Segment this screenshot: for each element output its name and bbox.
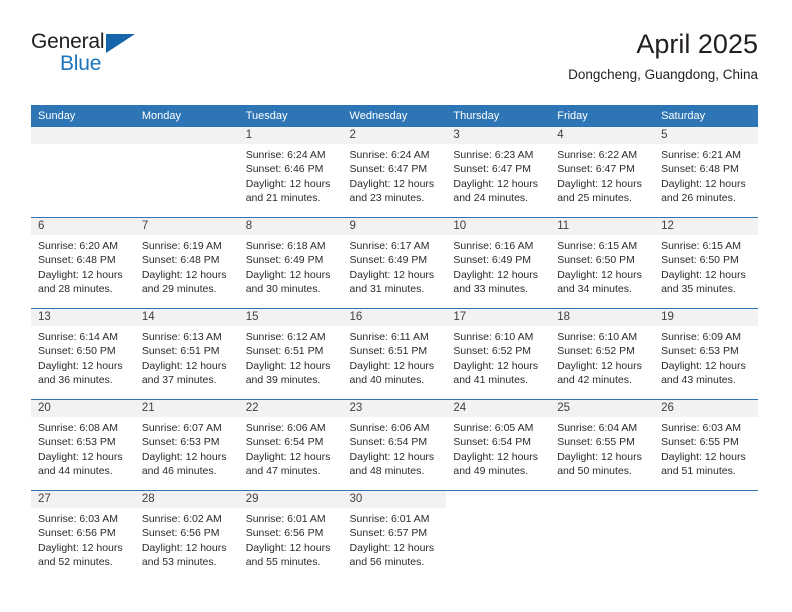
day-number: 16 — [343, 309, 447, 326]
day-detail-line: Sunrise: 6:20 AM — [38, 239, 129, 253]
day-detail-line: Sunrise: 6:13 AM — [142, 330, 233, 344]
calendar-day-cell[interactable]: 13Sunrise: 6:14 AMSunset: 6:50 PMDayligh… — [31, 309, 135, 400]
day-detail-line: Sunrise: 6:03 AM — [661, 421, 752, 435]
logo-text-blue: Blue — [60, 52, 101, 76]
day-detail-line: Daylight: 12 hours — [38, 541, 129, 555]
day-detail-line: Sunrise: 6:08 AM — [38, 421, 129, 435]
day-detail-line: Daylight: 12 hours — [246, 541, 337, 555]
day-details: Sunrise: 6:08 AMSunset: 6:53 PMDaylight:… — [31, 417, 135, 478]
calendar-empty-cell — [446, 491, 550, 582]
calendar-day-cell[interactable]: 16Sunrise: 6:11 AMSunset: 6:51 PMDayligh… — [343, 309, 447, 400]
calendar-day-cell[interactable]: 23Sunrise: 6:06 AMSunset: 6:54 PMDayligh… — [343, 400, 447, 491]
day-detail-line: and 41 minutes. — [453, 373, 544, 387]
day-number — [31, 127, 135, 144]
day-cell-inner: 10Sunrise: 6:16 AMSunset: 6:49 PMDayligh… — [446, 218, 550, 308]
calendar-empty-cell — [654, 491, 758, 582]
day-detail-line: and 48 minutes. — [350, 464, 441, 478]
day-number: 23 — [343, 400, 447, 417]
day-details: Sunrise: 6:19 AMSunset: 6:48 PMDaylight:… — [135, 235, 239, 296]
day-cell-inner: 6Sunrise: 6:20 AMSunset: 6:48 PMDaylight… — [31, 218, 135, 308]
calendar-day-cell[interactable]: 20Sunrise: 6:08 AMSunset: 6:53 PMDayligh… — [31, 400, 135, 491]
day-detail-line: Sunset: 6:53 PM — [142, 435, 233, 449]
weekday-header-wednesday: Wednesday — [343, 105, 447, 127]
day-detail-line: and 29 minutes. — [142, 282, 233, 296]
day-cell-inner: 14Sunrise: 6:13 AMSunset: 6:51 PMDayligh… — [135, 309, 239, 399]
day-detail-line: Sunset: 6:49 PM — [246, 253, 337, 267]
logo-triangle-icon — [106, 34, 135, 53]
day-detail-line: Sunset: 6:47 PM — [350, 162, 441, 176]
calendar-day-cell[interactable]: 24Sunrise: 6:05 AMSunset: 6:54 PMDayligh… — [446, 400, 550, 491]
day-detail-line: Sunrise: 6:23 AM — [453, 148, 544, 162]
day-detail-line: Daylight: 12 hours — [142, 541, 233, 555]
day-details: Sunrise: 6:22 AMSunset: 6:47 PMDaylight:… — [550, 144, 654, 205]
day-detail-line: Sunset: 6:47 PM — [453, 162, 544, 176]
day-detail-line: Sunrise: 6:10 AM — [557, 330, 648, 344]
day-detail-line: Sunrise: 6:21 AM — [661, 148, 752, 162]
day-details: Sunrise: 6:20 AMSunset: 6:48 PMDaylight:… — [31, 235, 135, 296]
day-detail-line: Sunset: 6:56 PM — [142, 526, 233, 540]
day-detail-line: Daylight: 12 hours — [453, 268, 544, 282]
day-details: Sunrise: 6:17 AMSunset: 6:49 PMDaylight:… — [343, 235, 447, 296]
calendar-day-cell[interactable]: 9Sunrise: 6:17 AMSunset: 6:49 PMDaylight… — [343, 218, 447, 309]
day-details: Sunrise: 6:01 AMSunset: 6:56 PMDaylight:… — [239, 508, 343, 569]
day-cell-inner: 2Sunrise: 6:24 AMSunset: 6:47 PMDaylight… — [343, 127, 447, 217]
page-header: General Blue April 2025 Dongcheng, Guang… — [31, 28, 758, 96]
day-detail-line: and 35 minutes. — [661, 282, 752, 296]
weekday-header-row: Sunday Monday Tuesday Wednesday Thursday… — [31, 105, 758, 127]
day-cell-inner: 5Sunrise: 6:21 AMSunset: 6:48 PMDaylight… — [654, 127, 758, 217]
calendar-day-cell[interactable]: 10Sunrise: 6:16 AMSunset: 6:49 PMDayligh… — [446, 218, 550, 309]
calendar-day-cell[interactable]: 17Sunrise: 6:10 AMSunset: 6:52 PMDayligh… — [446, 309, 550, 400]
day-cell-inner: 30Sunrise: 6:01 AMSunset: 6:57 PMDayligh… — [343, 491, 447, 581]
day-detail-line: Sunrise: 6:19 AM — [142, 239, 233, 253]
calendar-day-cell[interactable]: 6Sunrise: 6:20 AMSunset: 6:48 PMDaylight… — [31, 218, 135, 309]
calendar-day-cell[interactable]: 3Sunrise: 6:23 AMSunset: 6:47 PMDaylight… — [446, 127, 550, 218]
day-cell-inner: 25Sunrise: 6:04 AMSunset: 6:55 PMDayligh… — [550, 400, 654, 490]
day-cell-inner: 29Sunrise: 6:01 AMSunset: 6:56 PMDayligh… — [239, 491, 343, 581]
day-number: 7 — [135, 218, 239, 235]
day-detail-line: and 23 minutes. — [350, 191, 441, 205]
day-detail-line: Sunrise: 6:06 AM — [350, 421, 441, 435]
day-detail-line: and 31 minutes. — [350, 282, 441, 296]
day-detail-line: Sunset: 6:56 PM — [38, 526, 129, 540]
day-detail-line: Daylight: 12 hours — [350, 450, 441, 464]
day-detail-line: Sunrise: 6:07 AM — [142, 421, 233, 435]
day-details: Sunrise: 6:13 AMSunset: 6:51 PMDaylight:… — [135, 326, 239, 387]
day-detail-line: Sunset: 6:48 PM — [661, 162, 752, 176]
day-cell-inner: 24Sunrise: 6:05 AMSunset: 6:54 PMDayligh… — [446, 400, 550, 490]
weekday-header-tuesday: Tuesday — [239, 105, 343, 127]
calendar-empty-cell — [135, 127, 239, 218]
weekday-header-monday: Monday — [135, 105, 239, 127]
day-cell-inner: 8Sunrise: 6:18 AMSunset: 6:49 PMDaylight… — [239, 218, 343, 308]
day-detail-line: Sunset: 6:55 PM — [557, 435, 648, 449]
day-details: Sunrise: 6:06 AMSunset: 6:54 PMDaylight:… — [239, 417, 343, 478]
day-details: Sunrise: 6:24 AMSunset: 6:47 PMDaylight:… — [343, 144, 447, 205]
day-details: Sunrise: 6:04 AMSunset: 6:55 PMDaylight:… — [550, 417, 654, 478]
calendar-day-cell[interactable]: 19Sunrise: 6:09 AMSunset: 6:53 PMDayligh… — [654, 309, 758, 400]
day-cell-inner — [135, 127, 239, 217]
calendar-day-cell[interactable]: 18Sunrise: 6:10 AMSunset: 6:52 PMDayligh… — [550, 309, 654, 400]
day-detail-line: Daylight: 12 hours — [246, 359, 337, 373]
day-detail-line: Sunrise: 6:10 AM — [453, 330, 544, 344]
day-number: 12 — [654, 218, 758, 235]
day-detail-line: Sunrise: 6:12 AM — [246, 330, 337, 344]
weekday-header-sunday: Sunday — [31, 105, 135, 127]
calendar-day-cell[interactable]: 26Sunrise: 6:03 AMSunset: 6:55 PMDayligh… — [654, 400, 758, 491]
day-cell-inner: 11Sunrise: 6:15 AMSunset: 6:50 PMDayligh… — [550, 218, 654, 308]
day-cell-inner: 9Sunrise: 6:17 AMSunset: 6:49 PMDaylight… — [343, 218, 447, 308]
day-detail-line: Sunrise: 6:02 AM — [142, 512, 233, 526]
day-cell-inner: 18Sunrise: 6:10 AMSunset: 6:52 PMDayligh… — [550, 309, 654, 399]
calendar-day-cell[interactable]: 22Sunrise: 6:06 AMSunset: 6:54 PMDayligh… — [239, 400, 343, 491]
day-number — [135, 127, 239, 144]
day-details: Sunrise: 6:01 AMSunset: 6:57 PMDaylight:… — [343, 508, 447, 569]
day-detail-line: Daylight: 12 hours — [661, 177, 752, 191]
day-details: Sunrise: 6:14 AMSunset: 6:50 PMDaylight:… — [31, 326, 135, 387]
day-details: Sunrise: 6:06 AMSunset: 6:54 PMDaylight:… — [343, 417, 447, 478]
day-cell-inner: 4Sunrise: 6:22 AMSunset: 6:47 PMDaylight… — [550, 127, 654, 217]
day-number: 21 — [135, 400, 239, 417]
day-cell-inner: 7Sunrise: 6:19 AMSunset: 6:48 PMDaylight… — [135, 218, 239, 308]
day-detail-line: Sunrise: 6:15 AM — [661, 239, 752, 253]
day-detail-line: Daylight: 12 hours — [453, 450, 544, 464]
day-cell-inner: 20Sunrise: 6:08 AMSunset: 6:53 PMDayligh… — [31, 400, 135, 490]
day-detail-line: and 53 minutes. — [142, 555, 233, 569]
day-detail-line: and 56 minutes. — [350, 555, 441, 569]
calendar-day-cell[interactable]: 5Sunrise: 6:21 AMSunset: 6:48 PMDaylight… — [654, 127, 758, 218]
day-detail-line: Sunset: 6:51 PM — [142, 344, 233, 358]
day-detail-line: Daylight: 12 hours — [661, 268, 752, 282]
calendar-day-cell[interactable]: 25Sunrise: 6:04 AMSunset: 6:55 PMDayligh… — [550, 400, 654, 491]
day-detail-line: Sunset: 6:52 PM — [557, 344, 648, 358]
day-detail-line: and 44 minutes. — [38, 464, 129, 478]
day-detail-line: Sunset: 6:49 PM — [350, 253, 441, 267]
day-detail-line: Daylight: 12 hours — [661, 359, 752, 373]
day-cell-inner: 17Sunrise: 6:10 AMSunset: 6:52 PMDayligh… — [446, 309, 550, 399]
day-cell-inner — [31, 127, 135, 217]
day-details: Sunrise: 6:24 AMSunset: 6:46 PMDaylight:… — [239, 144, 343, 205]
day-detail-line: Sunset: 6:56 PM — [246, 526, 337, 540]
calendar-week-row: 6Sunrise: 6:20 AMSunset: 6:48 PMDaylight… — [31, 218, 758, 309]
day-detail-line: Sunrise: 6:01 AM — [350, 512, 441, 526]
calendar-body: 1Sunrise: 6:24 AMSunset: 6:46 PMDaylight… — [31, 127, 758, 581]
calendar-day-cell[interactable]: 4Sunrise: 6:22 AMSunset: 6:47 PMDaylight… — [550, 127, 654, 218]
day-cell-inner: 12Sunrise: 6:15 AMSunset: 6:50 PMDayligh… — [654, 218, 758, 308]
day-detail-line: Daylight: 12 hours — [350, 359, 441, 373]
day-detail-line: Sunset: 6:51 PM — [350, 344, 441, 358]
day-detail-line: Sunset: 6:50 PM — [557, 253, 648, 267]
day-detail-line: Sunrise: 6:24 AM — [246, 148, 337, 162]
day-detail-line: Sunset: 6:49 PM — [453, 253, 544, 267]
day-cell-inner — [654, 491, 758, 581]
day-detail-line: Sunset: 6:53 PM — [38, 435, 129, 449]
day-detail-line: Sunrise: 6:01 AM — [246, 512, 337, 526]
day-details: Sunrise: 6:23 AMSunset: 6:47 PMDaylight:… — [446, 144, 550, 205]
calendar-day-cell[interactable]: 12Sunrise: 6:15 AMSunset: 6:50 PMDayligh… — [654, 218, 758, 309]
day-number: 6 — [31, 218, 135, 235]
day-details: Sunrise: 6:21 AMSunset: 6:48 PMDaylight:… — [654, 144, 758, 205]
calendar-day-cell[interactable]: 11Sunrise: 6:15 AMSunset: 6:50 PMDayligh… — [550, 218, 654, 309]
day-detail-line: Sunset: 6:48 PM — [142, 253, 233, 267]
day-detail-line: Daylight: 12 hours — [557, 268, 648, 282]
day-number: 9 — [343, 218, 447, 235]
day-number: 24 — [446, 400, 550, 417]
day-cell-inner: 15Sunrise: 6:12 AMSunset: 6:51 PMDayligh… — [239, 309, 343, 399]
day-details: Sunrise: 6:11 AMSunset: 6:51 PMDaylight:… — [343, 326, 447, 387]
day-detail-line: Sunrise: 6:17 AM — [350, 239, 441, 253]
day-detail-line: and 52 minutes. — [38, 555, 129, 569]
weekday-header-thursday: Thursday — [446, 105, 550, 127]
day-detail-line: and 55 minutes. — [246, 555, 337, 569]
calendar-week-row: 1Sunrise: 6:24 AMSunset: 6:46 PMDaylight… — [31, 127, 758, 218]
day-details: Sunrise: 6:03 AMSunset: 6:56 PMDaylight:… — [31, 508, 135, 569]
day-detail-line: Sunset: 6:57 PM — [350, 526, 441, 540]
day-detail-line: Sunset: 6:46 PM — [246, 162, 337, 176]
day-detail-line: Daylight: 12 hours — [350, 177, 441, 191]
day-cell-inner: 19Sunrise: 6:09 AMSunset: 6:53 PMDayligh… — [654, 309, 758, 399]
day-number: 20 — [31, 400, 135, 417]
location-subtitle: Dongcheng, Guangdong, China — [568, 66, 758, 84]
day-detail-line: and 39 minutes. — [246, 373, 337, 387]
day-details: Sunrise: 6:03 AMSunset: 6:55 PMDaylight:… — [654, 417, 758, 478]
day-cell-inner — [550, 491, 654, 581]
day-detail-line: Sunset: 6:48 PM — [38, 253, 129, 267]
day-detail-line: Sunset: 6:54 PM — [246, 435, 337, 449]
day-detail-line: and 37 minutes. — [142, 373, 233, 387]
calendar-day-cell[interactable]: 2Sunrise: 6:24 AMSunset: 6:47 PMDaylight… — [343, 127, 447, 218]
day-detail-line: Sunrise: 6:04 AM — [557, 421, 648, 435]
day-number: 22 — [239, 400, 343, 417]
day-detail-line: Daylight: 12 hours — [142, 359, 233, 373]
day-cell-inner: 23Sunrise: 6:06 AMSunset: 6:54 PMDayligh… — [343, 400, 447, 490]
day-detail-line: Sunrise: 6:14 AM — [38, 330, 129, 344]
day-number: 3 — [446, 127, 550, 144]
day-details: Sunrise: 6:18 AMSunset: 6:49 PMDaylight:… — [239, 235, 343, 296]
day-detail-line: Daylight: 12 hours — [453, 177, 544, 191]
day-detail-line: Daylight: 12 hours — [557, 450, 648, 464]
calendar-page: General Blue April 2025 Dongcheng, Guang… — [0, 0, 792, 612]
calendar-day-cell[interactable]: 30Sunrise: 6:01 AMSunset: 6:57 PMDayligh… — [343, 491, 447, 582]
day-details: Sunrise: 6:02 AMSunset: 6:56 PMDaylight:… — [135, 508, 239, 569]
day-number: 5 — [654, 127, 758, 144]
calendar-week-row: 13Sunrise: 6:14 AMSunset: 6:50 PMDayligh… — [31, 309, 758, 400]
day-number: 15 — [239, 309, 343, 326]
day-details: Sunrise: 6:10 AMSunset: 6:52 PMDaylight:… — [550, 326, 654, 387]
day-cell-inner: 22Sunrise: 6:06 AMSunset: 6:54 PMDayligh… — [239, 400, 343, 490]
day-detail-line: Daylight: 12 hours — [38, 359, 129, 373]
day-number: 25 — [550, 400, 654, 417]
calendar-day-cell[interactable]: 27Sunrise: 6:03 AMSunset: 6:56 PMDayligh… — [31, 491, 135, 582]
day-detail-line: Sunset: 6:47 PM — [557, 162, 648, 176]
day-cell-inner: 28Sunrise: 6:02 AMSunset: 6:56 PMDayligh… — [135, 491, 239, 581]
day-cell-inner: 21Sunrise: 6:07 AMSunset: 6:53 PMDayligh… — [135, 400, 239, 490]
day-detail-line: and 42 minutes. — [557, 373, 648, 387]
day-detail-line: Sunrise: 6:16 AM — [453, 239, 544, 253]
day-detail-line: and 36 minutes. — [38, 373, 129, 387]
day-number: 17 — [446, 309, 550, 326]
day-detail-line: and 24 minutes. — [453, 191, 544, 205]
day-number: 18 — [550, 309, 654, 326]
day-detail-line: and 43 minutes. — [661, 373, 752, 387]
day-detail-line: and 25 minutes. — [557, 191, 648, 205]
day-cell-inner: 27Sunrise: 6:03 AMSunset: 6:56 PMDayligh… — [31, 491, 135, 581]
day-detail-line: Daylight: 12 hours — [246, 268, 337, 282]
day-number: 27 — [31, 491, 135, 508]
day-detail-line: Daylight: 12 hours — [453, 359, 544, 373]
general-blue-logo[interactable]: General Blue — [31, 28, 146, 80]
day-detail-line: Daylight: 12 hours — [557, 359, 648, 373]
day-detail-line: Sunset: 6:55 PM — [661, 435, 752, 449]
day-detail-line: and 51 minutes. — [661, 464, 752, 478]
day-detail-line: Daylight: 12 hours — [661, 450, 752, 464]
day-cell-inner: 16Sunrise: 6:11 AMSunset: 6:51 PMDayligh… — [343, 309, 447, 399]
day-detail-line: and 21 minutes. — [246, 191, 337, 205]
day-detail-line: Sunrise: 6:18 AM — [246, 239, 337, 253]
calendar-week-row: 20Sunrise: 6:08 AMSunset: 6:53 PMDayligh… — [31, 400, 758, 491]
day-detail-line: and 49 minutes. — [453, 464, 544, 478]
day-detail-line: Sunset: 6:50 PM — [661, 253, 752, 267]
day-cell-inner: 3Sunrise: 6:23 AMSunset: 6:47 PMDaylight… — [446, 127, 550, 217]
day-detail-line: and 28 minutes. — [38, 282, 129, 296]
day-number: 28 — [135, 491, 239, 508]
logo-text-general: General — [31, 30, 104, 54]
day-detail-line: Daylight: 12 hours — [557, 177, 648, 191]
day-detail-line: and 46 minutes. — [142, 464, 233, 478]
calendar-day-cell[interactable]: 29Sunrise: 6:01 AMSunset: 6:56 PMDayligh… — [239, 491, 343, 582]
day-details: Sunrise: 6:12 AMSunset: 6:51 PMDaylight:… — [239, 326, 343, 387]
day-details: Sunrise: 6:10 AMSunset: 6:52 PMDaylight:… — [446, 326, 550, 387]
day-number — [446, 491, 550, 508]
day-detail-line: Daylight: 12 hours — [142, 268, 233, 282]
day-number: 11 — [550, 218, 654, 235]
calendar-day-cell[interactable]: 8Sunrise: 6:18 AMSunset: 6:49 PMDaylight… — [239, 218, 343, 309]
day-detail-line: Sunset: 6:52 PM — [453, 344, 544, 358]
page-title: April 2025 — [568, 28, 758, 60]
calendar-empty-cell — [31, 127, 135, 218]
day-number — [550, 491, 654, 508]
day-number: 30 — [343, 491, 447, 508]
day-detail-line: Sunrise: 6:11 AM — [350, 330, 441, 344]
weekday-header-saturday: Saturday — [654, 105, 758, 127]
day-detail-line: Daylight: 12 hours — [142, 450, 233, 464]
day-detail-line: and 33 minutes. — [453, 282, 544, 296]
day-number: 2 — [343, 127, 447, 144]
day-number: 26 — [654, 400, 758, 417]
calendar-grid: Sunday Monday Tuesday Wednesday Thursday… — [31, 105, 758, 581]
weekday-header-friday: Friday — [550, 105, 654, 127]
day-number: 13 — [31, 309, 135, 326]
day-detail-line: Sunrise: 6:06 AM — [246, 421, 337, 435]
day-detail-line: Daylight: 12 hours — [246, 177, 337, 191]
day-detail-line: Sunrise: 6:03 AM — [38, 512, 129, 526]
day-detail-line: Sunset: 6:51 PM — [246, 344, 337, 358]
day-detail-line: Daylight: 12 hours — [38, 268, 129, 282]
calendar-week-row: 27Sunrise: 6:03 AMSunset: 6:56 PMDayligh… — [31, 491, 758, 582]
day-number: 10 — [446, 218, 550, 235]
day-number: 14 — [135, 309, 239, 326]
day-detail-line: Sunset: 6:53 PM — [661, 344, 752, 358]
day-detail-line: and 40 minutes. — [350, 373, 441, 387]
day-detail-line: Sunset: 6:54 PM — [350, 435, 441, 449]
day-detail-line: and 26 minutes. — [661, 191, 752, 205]
calendar-day-cell[interactable]: 21Sunrise: 6:07 AMSunset: 6:53 PMDayligh… — [135, 400, 239, 491]
calendar-day-cell[interactable]: 1Sunrise: 6:24 AMSunset: 6:46 PMDaylight… — [239, 127, 343, 218]
calendar-day-cell[interactable]: 14Sunrise: 6:13 AMSunset: 6:51 PMDayligh… — [135, 309, 239, 400]
day-detail-line: Sunrise: 6:09 AM — [661, 330, 752, 344]
day-cell-inner: 13Sunrise: 6:14 AMSunset: 6:50 PMDayligh… — [31, 309, 135, 399]
calendar-day-cell[interactable]: 7Sunrise: 6:19 AMSunset: 6:48 PMDaylight… — [135, 218, 239, 309]
day-detail-line: Sunrise: 6:05 AM — [453, 421, 544, 435]
title-block: April 2025 Dongcheng, Guangdong, China — [568, 28, 758, 84]
day-cell-inner: 1Sunrise: 6:24 AMSunset: 6:46 PMDaylight… — [239, 127, 343, 217]
day-detail-line: Daylight: 12 hours — [246, 450, 337, 464]
day-detail-line: Sunrise: 6:15 AM — [557, 239, 648, 253]
day-cell-inner: 26Sunrise: 6:03 AMSunset: 6:55 PMDayligh… — [654, 400, 758, 490]
day-number: 19 — [654, 309, 758, 326]
day-detail-line: and 30 minutes. — [246, 282, 337, 296]
day-detail-line: Daylight: 12 hours — [350, 541, 441, 555]
calendar-empty-cell — [550, 491, 654, 582]
day-detail-line: Sunset: 6:50 PM — [38, 344, 129, 358]
day-cell-inner — [446, 491, 550, 581]
day-details: Sunrise: 6:05 AMSunset: 6:54 PMDaylight:… — [446, 417, 550, 478]
calendar-day-cell[interactable]: 28Sunrise: 6:02 AMSunset: 6:56 PMDayligh… — [135, 491, 239, 582]
day-detail-line: Sunrise: 6:24 AM — [350, 148, 441, 162]
day-details: Sunrise: 6:16 AMSunset: 6:49 PMDaylight:… — [446, 235, 550, 296]
day-detail-line: Daylight: 12 hours — [38, 450, 129, 464]
day-detail-line: Sunrise: 6:22 AM — [557, 148, 648, 162]
day-details: Sunrise: 6:09 AMSunset: 6:53 PMDaylight:… — [654, 326, 758, 387]
day-number — [654, 491, 758, 508]
day-detail-line: and 34 minutes. — [557, 282, 648, 296]
calendar-day-cell[interactable]: 15Sunrise: 6:12 AMSunset: 6:51 PMDayligh… — [239, 309, 343, 400]
day-number: 1 — [239, 127, 343, 144]
day-detail-line: and 50 minutes. — [557, 464, 648, 478]
day-detail-line: Daylight: 12 hours — [350, 268, 441, 282]
day-details: Sunrise: 6:07 AMSunset: 6:53 PMDaylight:… — [135, 417, 239, 478]
day-number: 8 — [239, 218, 343, 235]
day-number: 4 — [550, 127, 654, 144]
day-detail-line: and 47 minutes. — [246, 464, 337, 478]
day-detail-line: Sunset: 6:54 PM — [453, 435, 544, 449]
day-details: Sunrise: 6:15 AMSunset: 6:50 PMDaylight:… — [654, 235, 758, 296]
day-details: Sunrise: 6:15 AMSunset: 6:50 PMDaylight:… — [550, 235, 654, 296]
day-number: 29 — [239, 491, 343, 508]
